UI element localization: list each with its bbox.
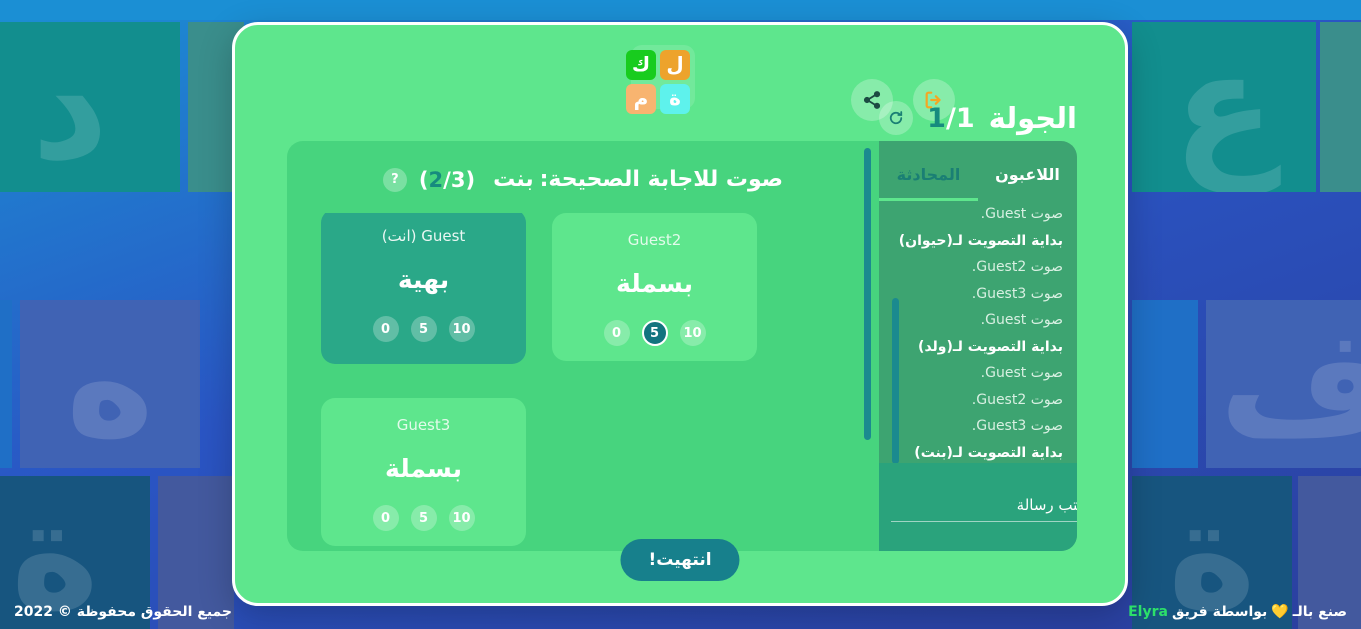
vote-progress: (2/3) <box>419 168 475 192</box>
question-prompt: صوت للاجابة الصحيحة: <box>540 167 783 192</box>
card-score-group: 10 5 0 <box>604 320 706 346</box>
background-strip <box>0 0 1361 20</box>
refresh-icon <box>887 109 905 127</box>
background-tile: ه <box>20 300 200 468</box>
tab-players[interactable]: اللاعبون <box>978 157 1077 201</box>
score-button-10[interactable]: 10 <box>680 320 706 346</box>
round-total: 1 <box>956 103 975 134</box>
background-tile: ع <box>1132 22 1316 192</box>
card-score-group: 10 5 0 <box>373 316 475 342</box>
credit-middle: بواسطة فريق <box>1172 604 1267 620</box>
chat-message-list[interactable]: صوت Guest. بداية التصويت لـ(حيوان) صوت G… <box>879 201 1077 463</box>
chat-message: صوت Guest. <box>887 360 1063 387</box>
footer-credit: صنع بالـ 💛 بواسطة فريق Elyra <box>1128 604 1347 620</box>
chat-input-area <box>879 463 1077 551</box>
card-answer-text: بهية <box>398 265 449 294</box>
background-letter: ه <box>66 309 155 459</box>
logo-tile-letter: ل <box>666 54 683 74</box>
chat-panel: المحادثة اللاعبون صوت Guest. بداية التصو… <box>879 141 1077 551</box>
score-button-5[interactable]: 5 <box>411 505 437 531</box>
background-letter: د <box>32 32 109 182</box>
answer-card[interactable]: Guest3 بسملة 10 5 0 <box>321 398 526 546</box>
help-icon[interactable]: ? <box>383 168 407 192</box>
round-counter: 1/1 <box>927 103 974 134</box>
question-text: صوت للاجابة الصحيحة:بنت <box>487 167 783 192</box>
chat-message: صوت Guest3. <box>887 413 1063 440</box>
background-tile: د <box>0 22 180 192</box>
question-correct-answer: بنت <box>493 167 534 192</box>
chat-message: صوت Guest2. <box>887 387 1063 414</box>
credit-prefix: صنع بالـ <box>1293 604 1347 620</box>
heart-icon: 💛 <box>1271 604 1288 620</box>
answer-card[interactable]: Guest (انت) بهية 10 5 0 <box>321 213 526 364</box>
score-button-5[interactable]: 5 <box>411 316 437 342</box>
modal-body: صوت للاجابة الصحيحة:بنت (2/3) ? Guest (ا… <box>287 141 1077 551</box>
card-score-group: 10 5 0 <box>373 505 475 531</box>
chat-message: بداية التصويت لـ(بنت) <box>887 440 1063 464</box>
tab-chat[interactable]: المحادثة <box>879 157 978 201</box>
page-footer: صنع بالـ 💛 بواسطة فريق Elyra جميع الحقوق… <box>0 595 1361 629</box>
game-modal: ل ك ة م الجولة 1/1 <box>232 22 1128 606</box>
chat-message: بداية التصويت لـ(حيوان) <box>887 228 1063 255</box>
background-letter: ف <box>1219 309 1361 459</box>
refresh-button[interactable] <box>879 101 913 135</box>
modal-header: ل ك ة م الجولة 1/1 <box>235 25 1125 133</box>
card-player-name: Guest (انت) <box>382 227 466 245</box>
answer-grid: Guest (انت) بهية 10 5 0 Guest2 بسملة 10 … <box>287 213 879 551</box>
score-button-0[interactable]: 0 <box>373 316 399 342</box>
votes-total: 3 <box>451 168 466 192</box>
game-area: صوت للاجابة الصحيحة:بنت (2/3) ? Guest (ا… <box>287 141 879 551</box>
score-button-10[interactable]: 10 <box>449 316 475 342</box>
background-tile: ف <box>1206 300 1361 468</box>
chat-message: صوت Guest2. <box>887 254 1063 281</box>
logo-tile-letter: م <box>634 88 649 108</box>
card-answer-text: بسملة <box>385 454 462 483</box>
copyright-text: جميع الحقوق محفوظة © 2022 <box>14 604 232 620</box>
logo-tile-letter: ة <box>669 88 681 108</box>
finish-button[interactable]: انتهيت! <box>620 539 739 581</box>
chat-message: صوت Guest. <box>887 307 1063 334</box>
brand-name: Elyra <box>1128 604 1168 620</box>
background-letter: ع <box>1173 32 1275 182</box>
background-tile <box>1132 300 1198 468</box>
round-current: 1 <box>927 103 946 134</box>
votes-done: 2 <box>429 168 444 192</box>
chat-tabs: المحادثة اللاعبون <box>879 157 1077 201</box>
score-button-0[interactable]: 0 <box>373 505 399 531</box>
round-label: الجولة <box>989 101 1077 135</box>
logo-tile-3: ة <box>660 84 690 114</box>
logo-tile-4: م <box>626 84 656 114</box>
score-button-5[interactable]: 5 <box>642 320 668 346</box>
logo-tile-letter: ك <box>632 54 650 74</box>
logo-tile-2: ك <box>626 50 656 80</box>
chat-message: صوت Guest3. <box>887 281 1063 308</box>
chat-message: بداية التصويت لـ(ولد) <box>887 334 1063 361</box>
chat-message-input[interactable] <box>891 492 1077 522</box>
score-button-10[interactable]: 10 <box>449 505 475 531</box>
logo-tile-1: ل <box>660 50 690 80</box>
game-area-scrollbar[interactable] <box>864 148 871 440</box>
app-logo[interactable]: ل ك ة م <box>631 45 695 109</box>
score-button-0[interactable]: 0 <box>604 320 630 346</box>
chat-scrollbar[interactable] <box>892 298 899 464</box>
card-answer-text: بسملة <box>616 269 693 298</box>
question-bar: صوت للاجابة الصحيحة:بنت (2/3) ? <box>287 167 879 192</box>
card-player-name: Guest3 <box>397 416 451 434</box>
chat-message: صوت Guest. <box>887 201 1063 228</box>
round-separator: / <box>946 103 956 134</box>
answer-card[interactable]: Guest2 بسملة 10 5 0 <box>552 213 757 361</box>
background-tile <box>0 300 12 468</box>
background-tile <box>1320 22 1361 192</box>
round-info: الجولة 1/1 <box>879 101 1077 135</box>
card-player-name: Guest2 <box>628 231 682 249</box>
